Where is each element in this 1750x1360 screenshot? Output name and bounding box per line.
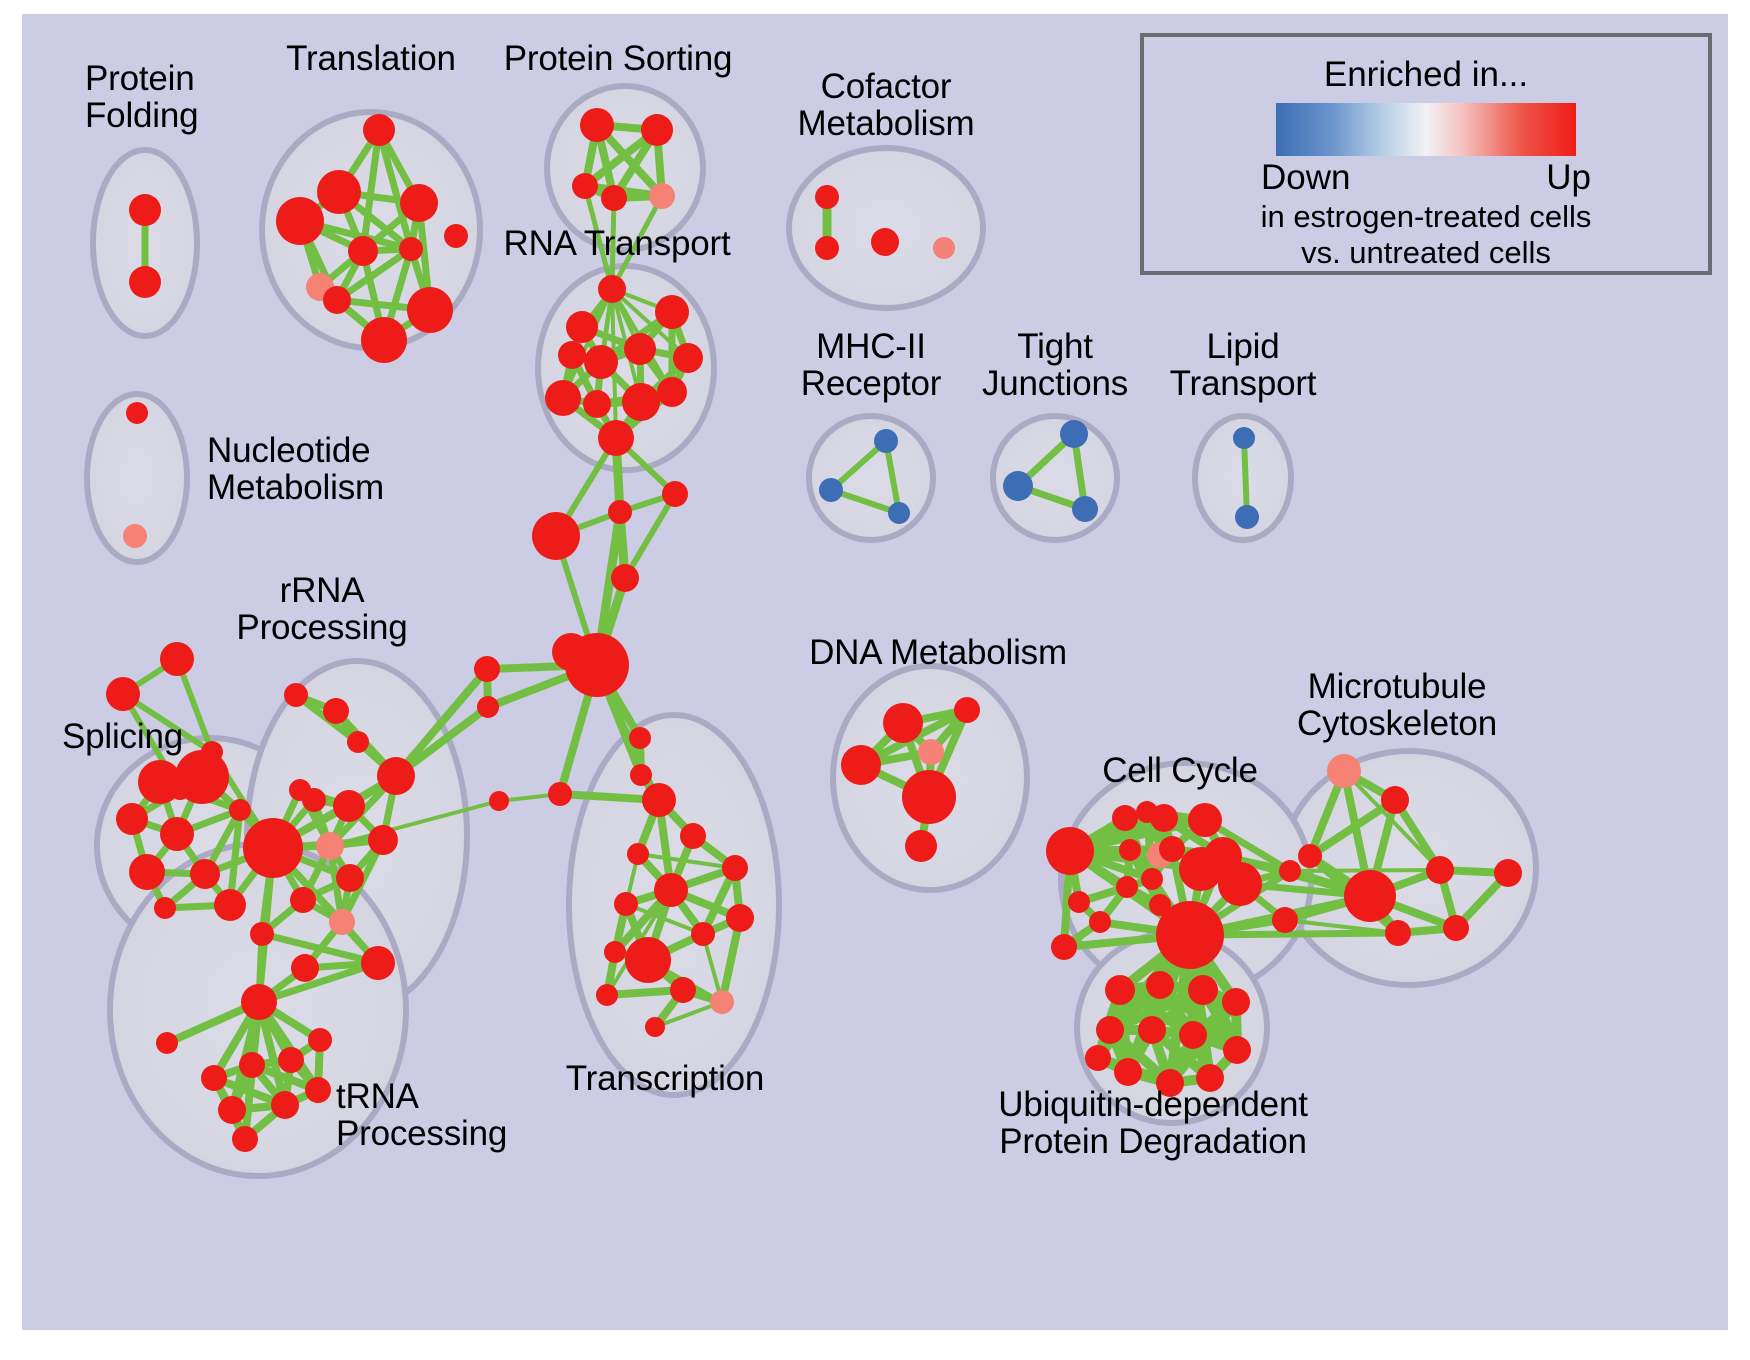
- node: [670, 977, 696, 1003]
- legend-title: Enriched in...: [1324, 55, 1528, 95]
- node: [1426, 856, 1454, 884]
- node: [625, 937, 671, 983]
- node: [1119, 839, 1141, 861]
- node: [1298, 844, 1322, 868]
- hull-cofactor-metabolism: [789, 148, 983, 308]
- node: [598, 420, 634, 456]
- cluster-label-trna-processing: tRNA Processing: [336, 1078, 507, 1153]
- legend-subtitle-2: vs. untreated cells: [1301, 236, 1551, 271]
- cluster-label-transcription: Transcription: [566, 1060, 764, 1097]
- node: [1223, 1036, 1251, 1064]
- node: [655, 295, 689, 329]
- node: [888, 502, 910, 524]
- legend-up-label: Up: [1546, 158, 1591, 198]
- node: [627, 843, 649, 865]
- node: [954, 697, 980, 723]
- node: [1381, 786, 1409, 814]
- node: [363, 114, 395, 146]
- node: [106, 677, 140, 711]
- cluster-label-cell-cycle: Cell Cycle: [1102, 752, 1258, 789]
- node: [548, 782, 572, 806]
- node: [1114, 1058, 1142, 1086]
- node: [154, 897, 176, 919]
- node: [232, 1126, 258, 1152]
- node: [116, 803, 148, 835]
- node: [400, 184, 438, 222]
- cluster-label-rna-transport: RNA Transport: [504, 225, 731, 262]
- node: [489, 791, 509, 811]
- cluster-label-nucleotide-metabolism: Nucleotide Metabolism: [207, 432, 384, 507]
- node: [276, 197, 324, 245]
- node: [662, 481, 688, 507]
- node: [918, 739, 944, 765]
- node: [1179, 1021, 1207, 1049]
- node: [190, 859, 220, 889]
- legend-subtitle-1: in estrogen-treated cells: [1261, 200, 1592, 235]
- cluster-label-protein-folding: Protein Folding: [85, 60, 198, 135]
- node: [871, 228, 899, 256]
- node: [336, 864, 364, 892]
- cluster-label-translation: Translation: [286, 40, 456, 77]
- node: [1494, 859, 1522, 887]
- node: [611, 564, 639, 592]
- node: [1156, 901, 1224, 969]
- cluster-label-microtubule-cytoskeleton: Microtubule Cytoskeleton: [1297, 668, 1497, 743]
- node: [629, 727, 651, 749]
- node: [160, 642, 194, 676]
- node: [649, 183, 675, 209]
- node: [129, 854, 165, 890]
- node: [641, 114, 673, 146]
- node: [1443, 915, 1469, 941]
- node: [552, 633, 590, 671]
- node: [598, 275, 626, 303]
- node: [583, 390, 611, 418]
- node: [1051, 934, 1077, 960]
- node: [883, 703, 923, 743]
- node: [348, 236, 378, 266]
- node: [1105, 975, 1135, 1005]
- node: [1179, 847, 1223, 891]
- node: [815, 236, 839, 260]
- node: [558, 341, 586, 369]
- node: [1003, 471, 1033, 501]
- node: [654, 873, 688, 907]
- cluster-label-tight-junctions: Tight Junctions: [982, 328, 1128, 403]
- cluster-label-dna-metabolism: DNA Metabolism: [809, 634, 1067, 671]
- node: [308, 1028, 332, 1052]
- node: [239, 1052, 265, 1078]
- node: [291, 954, 319, 982]
- node: [218, 1096, 246, 1124]
- hull-mhc-ii: [809, 416, 933, 540]
- node: [444, 224, 468, 248]
- node: [156, 1032, 178, 1054]
- node: [1138, 1016, 1166, 1044]
- node: [1150, 804, 1178, 832]
- node: [624, 333, 656, 365]
- node: [407, 287, 453, 333]
- node: [819, 478, 843, 502]
- node: [630, 764, 652, 786]
- node: [1218, 862, 1262, 906]
- node: [874, 429, 898, 453]
- legend-colorbar: [1276, 103, 1576, 156]
- node: [170, 780, 190, 800]
- node: [290, 887, 316, 913]
- node: [129, 194, 161, 226]
- node: [642, 783, 676, 817]
- cluster-label-mhc-ii-receptor: MHC-II Receptor: [801, 328, 941, 403]
- node: [347, 731, 369, 753]
- node: [545, 380, 581, 416]
- node: [645, 1017, 665, 1037]
- node: [316, 832, 344, 860]
- node: [477, 696, 499, 718]
- node: [284, 683, 308, 707]
- node: [368, 825, 398, 855]
- node: [323, 698, 349, 724]
- node: [1072, 496, 1098, 522]
- node: [841, 745, 881, 785]
- legend-endpoints: Down Up: [1261, 158, 1591, 198]
- node: [361, 946, 395, 980]
- legend-down-label: Down: [1261, 158, 1350, 198]
- cluster-label-ubiquitin-protein-degradation: Ubiquitin-dependent Protein Degradation: [998, 1086, 1308, 1161]
- node: [1112, 805, 1138, 831]
- node: [1222, 988, 1250, 1016]
- node: [129, 266, 161, 298]
- node: [580, 108, 614, 142]
- node: [1272, 907, 1298, 933]
- node: [614, 892, 638, 916]
- node: [1085, 1045, 1111, 1071]
- node: [1279, 860, 1301, 882]
- node: [377, 757, 415, 795]
- node: [305, 1077, 331, 1103]
- node: [596, 984, 618, 1006]
- cluster-label-protein-sorting: Protein Sorting: [504, 40, 733, 77]
- node: [622, 383, 660, 421]
- figure-root: Protein Folding Translation Protein Sort…: [0, 0, 1750, 1360]
- node: [302, 788, 326, 812]
- node: [126, 402, 148, 424]
- node: [905, 830, 937, 862]
- node: [710, 990, 734, 1014]
- node: [317, 170, 361, 214]
- node: [329, 909, 355, 935]
- node: [1116, 876, 1138, 898]
- node: [399, 237, 423, 261]
- node: [1068, 891, 1090, 913]
- node: [160, 817, 194, 851]
- node: [1327, 754, 1361, 788]
- node: [214, 889, 246, 921]
- node: [815, 185, 839, 209]
- node: [1141, 868, 1163, 890]
- node: [608, 500, 632, 524]
- node: [1235, 505, 1259, 529]
- cluster-label-lipid-transport: Lipid Transport: [1170, 328, 1317, 403]
- cluster-label-splicing: Splicing: [62, 718, 183, 755]
- node: [1188, 803, 1222, 837]
- node: [566, 311, 598, 343]
- node: [604, 941, 626, 963]
- node: [584, 345, 618, 379]
- cluster-label-cofactor-metabolism: Cofactor Metabolism: [798, 68, 975, 143]
- node: [601, 185, 627, 211]
- node: [691, 922, 715, 946]
- node: [572, 173, 598, 199]
- node: [1344, 870, 1396, 922]
- node: [361, 317, 407, 363]
- node: [243, 818, 303, 878]
- node: [1233, 427, 1255, 449]
- node: [1046, 827, 1094, 875]
- node: [278, 1047, 304, 1073]
- node: [1089, 911, 1111, 933]
- cluster-label-rrna-processing: rRNA Processing: [236, 572, 407, 647]
- node: [532, 512, 580, 560]
- node: [673, 343, 703, 373]
- node: [680, 823, 706, 849]
- node: [123, 524, 147, 548]
- node: [1146, 971, 1174, 999]
- node: [1096, 1016, 1124, 1044]
- node: [241, 984, 277, 1020]
- node: [902, 770, 956, 824]
- node: [333, 790, 365, 822]
- node: [229, 799, 251, 821]
- legend-panel: Enriched in... Down Up in estrogen-treat…: [1140, 33, 1712, 275]
- node: [323, 286, 351, 314]
- node: [726, 904, 754, 932]
- node: [657, 377, 687, 407]
- node: [933, 237, 955, 259]
- node: [1159, 836, 1185, 862]
- node: [271, 1091, 299, 1119]
- node: [250, 922, 274, 946]
- node: [1060, 420, 1088, 448]
- node: [474, 656, 500, 682]
- node: [722, 855, 748, 881]
- node: [201, 1065, 227, 1091]
- node: [1188, 975, 1218, 1005]
- node: [1385, 920, 1411, 946]
